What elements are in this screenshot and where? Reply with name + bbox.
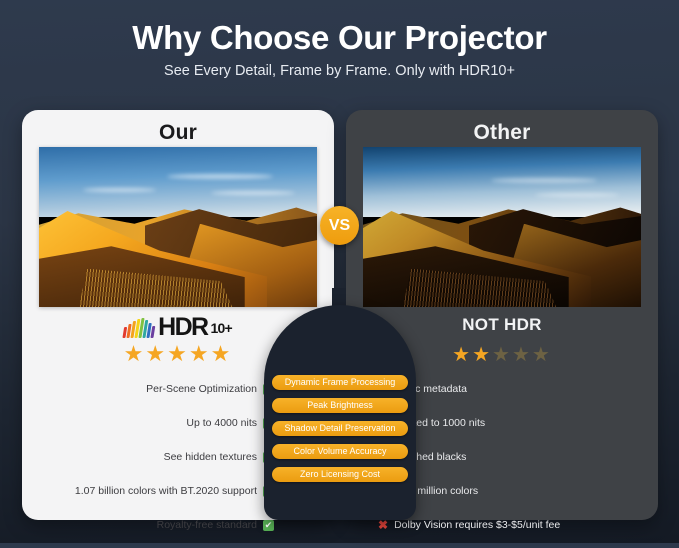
infographic-canvas: Why Choose Our Projector See Every Detai… xyxy=(0,0,679,543)
feature-label: Dolby Vision requires $3-$5/unit fee xyxy=(394,519,560,531)
feature-label: 1.07 billion colors with BT.2020 support xyxy=(75,485,257,497)
vs-badge: VS xyxy=(320,206,359,245)
pill-item[interactable]: Dynamic Frame Processing xyxy=(272,375,408,390)
header: Why Choose Our Projector See Every Detai… xyxy=(0,0,679,79)
page-subtitle: See Every Detail, Frame by Frame. Only w… xyxy=(0,56,679,79)
feature-label: Up to 4000 nits xyxy=(186,417,257,429)
feature-label: Per-Scene Optimization xyxy=(146,383,257,395)
pill-item[interactable]: Zero Licensing Cost xyxy=(272,467,408,482)
feature-label: Royalty-free standard xyxy=(157,519,257,531)
sky-crushed xyxy=(363,147,641,217)
pill-item[interactable]: Color Volume Accuracy xyxy=(272,444,408,459)
check-icon: ✔ xyxy=(263,520,274,531)
pill-item[interactable]: Peak Brightness xyxy=(272,398,408,413)
image-other-sdr xyxy=(363,147,641,307)
image-our-hdr xyxy=(39,147,317,307)
hdr-logo-text: HDR xyxy=(158,315,207,340)
sky-vivid xyxy=(39,147,317,217)
card-other-heading: Other xyxy=(346,110,658,145)
rainbow-bars-icon xyxy=(123,318,157,338)
pill-item[interactable]: Shadow Detail Preservation xyxy=(272,421,408,436)
hdr-logo-suffix: 10+ xyxy=(211,320,232,336)
not-hdr-label: NOT HDR xyxy=(462,315,542,335)
card-our-heading: Our xyxy=(22,110,334,145)
feature-label: See hidden textures xyxy=(164,451,257,463)
center-pill-list: Dynamic Frame Processing Peak Brightness… xyxy=(264,375,416,490)
page-title: Why Choose Our Projector xyxy=(0,0,679,56)
cross-icon: ✖ xyxy=(378,518,388,532)
